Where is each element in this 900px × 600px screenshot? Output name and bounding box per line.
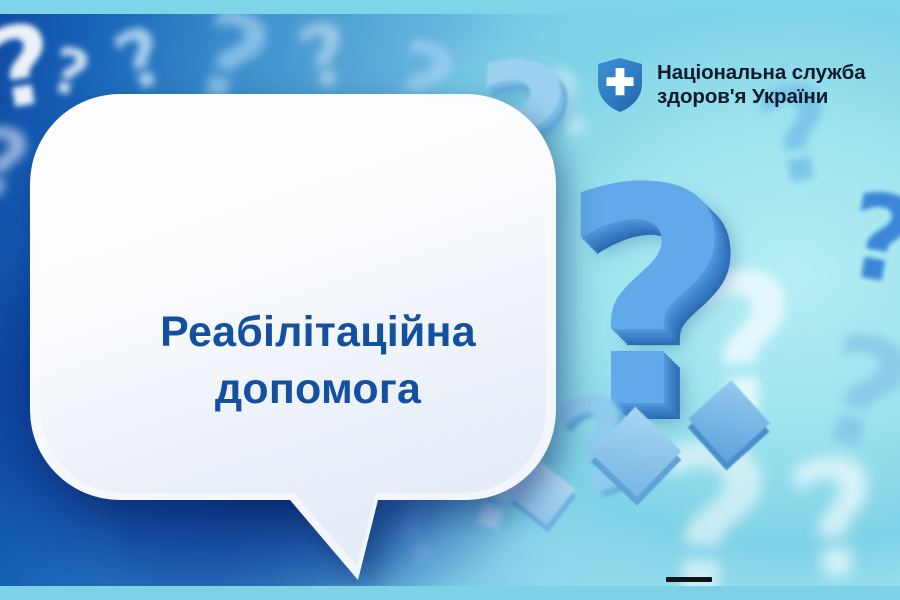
- poster-canvas: ? ? ? ? ? ? ? ? ? ? ? ? ? ? ? ? ? ? ? ? …: [0, 0, 900, 600]
- bottom-band: [0, 586, 900, 600]
- page-title: Реабілітаційна допомога: [68, 304, 568, 418]
- bottom-marker-bar: [666, 577, 712, 582]
- nhsu-logo: Національна служба здоров'я України: [596, 57, 866, 113]
- top-band: [0, 0, 900, 14]
- logo-text: Національна служба здоров'я України: [657, 61, 866, 109]
- speech-bubble: Реабілітаційна допомога: [28, 92, 558, 582]
- shield-cross-icon: [596, 57, 644, 113]
